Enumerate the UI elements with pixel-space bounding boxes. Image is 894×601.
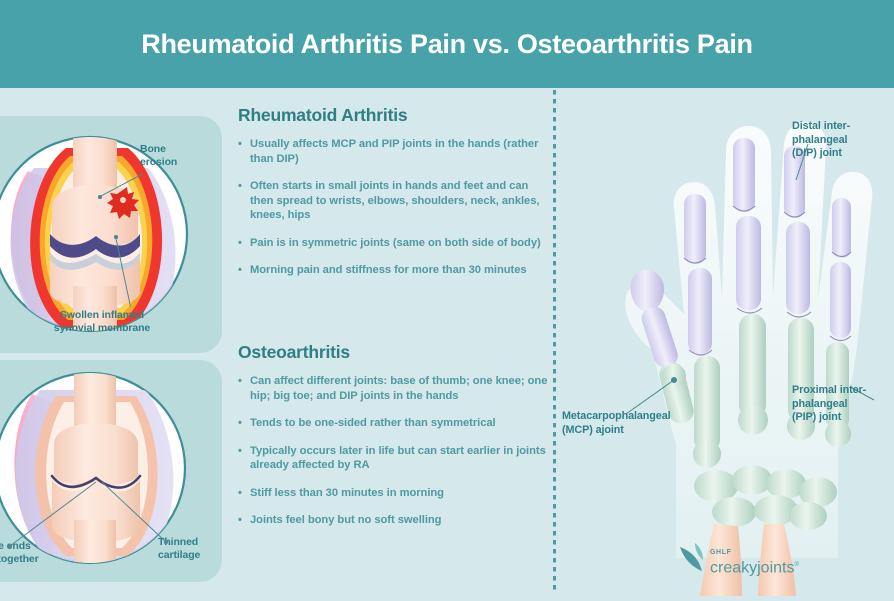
hand-label-mcp-joint-text: Metacarpophalangeal(MCP) ajoint	[562, 410, 671, 436]
leader-dot-thinned-cartilage	[164, 540, 168, 544]
page-title: Rheumatoid Arthritis Pain vs. Osteoarthr…	[141, 29, 752, 60]
osteoarthritis-joint-card: Bone endsrub together Thinnedcartilage	[0, 360, 222, 582]
creakyjoints-logo[interactable]: GHLF creakyjoints®	[678, 541, 788, 577]
bullet-glyph: •	[238, 263, 242, 278]
hand-skeleton-diagram	[556, 88, 894, 596]
section-rheumatoid-arthritis: Rheumatoid Arthritis • Usually affects M…	[238, 105, 550, 291]
header-bar: Rheumatoid Arthritis Pain vs. Osteoarthr…	[0, 0, 894, 88]
rheumatoid-joint-card: Boneerosion Swollen inflamedsynovial mem…	[0, 116, 222, 353]
bullet-text: Often starts in small joints in hands an…	[250, 180, 539, 221]
callout-swollen-synovial-membrane: Swollen inflamedsynovial membrane	[32, 309, 172, 335]
logo-ghlf-text: GHLF	[710, 549, 799, 556]
hand-label-pip-joint-text: Proximal inter-phalangeal(PIP) joint	[792, 384, 866, 423]
callout-bone-erosion: Boneerosion	[140, 143, 220, 169]
bullet-text: Joints feel bony but no soft swelling	[250, 514, 441, 526]
hand-label-pip-joint: Proximal inter-phalangeal(PIP) joint	[792, 384, 894, 425]
callout-bone-erosion-text: Boneerosion	[140, 143, 177, 168]
bullet-item: • Can affect different joints: base of t…	[238, 374, 550, 403]
logo-wordmark: GHLF creakyjoints®	[710, 549, 799, 576]
bullet-item: • Typically occurs later in life but can…	[238, 444, 550, 473]
leader-dot-mcp	[671, 377, 677, 383]
bullet-glyph: •	[238, 236, 242, 251]
ghlf-swoosh-icon	[678, 541, 708, 575]
right-column: Distal inter-phalangeal(DIP) joint Proxi…	[556, 88, 894, 596]
bullet-item: • Pain is in symmetric joints (same on b…	[238, 236, 550, 251]
infographic-page: Rheumatoid Arthritis Pain vs. Osteoarthr…	[0, 0, 894, 596]
bullet-glyph: •	[238, 486, 242, 501]
callout-thinned-cartilage: Thinnedcartilage	[158, 536, 228, 562]
bullet-item: • Morning pain and stiffness for more th…	[238, 263, 550, 278]
bullet-glyph: •	[238, 444, 242, 459]
bullet-glyph: •	[238, 416, 242, 431]
bullet-text: Usually affects MCP and PIP joints in th…	[250, 138, 538, 165]
bullet-glyph: •	[238, 374, 242, 389]
leader-dot-synovial	[114, 235, 118, 239]
callout-bone-ends-rub-text: Bone endsrub together	[0, 540, 39, 565]
hand-label-dip-joint: Distal inter-phalangeal(DIP) joint	[792, 120, 892, 161]
section-title-rheumatoid-arthritis: Rheumatoid Arthritis	[238, 105, 550, 126]
bullet-text: Stiff less than 30 minutes in morning	[250, 487, 444, 499]
bullet-text: Pain is in symmetric joints (same on bot…	[250, 237, 541, 249]
bullet-glyph: •	[238, 179, 242, 194]
bullet-item: • Joints feel bony but no soft swelling	[238, 513, 550, 528]
bullet-item: • Often starts in small joints in hands …	[238, 179, 550, 223]
section-title-osteoarthritis: Osteoarthritis	[238, 342, 550, 363]
bullet-item: • Tends to be one-sided rather than symm…	[238, 416, 550, 431]
callout-bone-ends-rub: Bone endsrub together	[0, 540, 88, 566]
leader-dot-bone-erosion	[98, 195, 102, 199]
bullet-text: Typically occurs later in life but can s…	[250, 445, 546, 472]
bullet-text: Tends to be one-sided rather than symmet…	[250, 417, 496, 429]
bullet-item: • Stiff less than 30 minutes in morning	[238, 486, 550, 501]
hand-label-mcp-joint: Metacarpophalangeal(MCP) ajoint	[562, 410, 702, 437]
left-column: Boneerosion Swollen inflamedsynovial mem…	[0, 88, 555, 596]
bullet-text: Can affect different joints: base of thu…	[250, 375, 547, 402]
section-osteoarthritis: Osteoarthritis • Can affect different jo…	[238, 342, 550, 541]
hand-label-dip-joint-text: Distal inter-phalangeal(DIP) joint	[792, 120, 850, 159]
bullet-glyph: •	[238, 513, 242, 528]
leader-dot-bone-ends	[8, 544, 12, 548]
callout-swollen-synovial-membrane-text: Swollen inflamedsynovial membrane	[54, 309, 150, 334]
registered-mark: ®	[794, 562, 798, 568]
bullet-text: Morning pain and stiffness for more than…	[250, 264, 527, 276]
logo-brand-text: creakyjoints®	[710, 557, 799, 576]
bullet-item: • Usually affects MCP and PIP joints in …	[238, 137, 550, 166]
bullet-glyph: •	[238, 137, 242, 152]
